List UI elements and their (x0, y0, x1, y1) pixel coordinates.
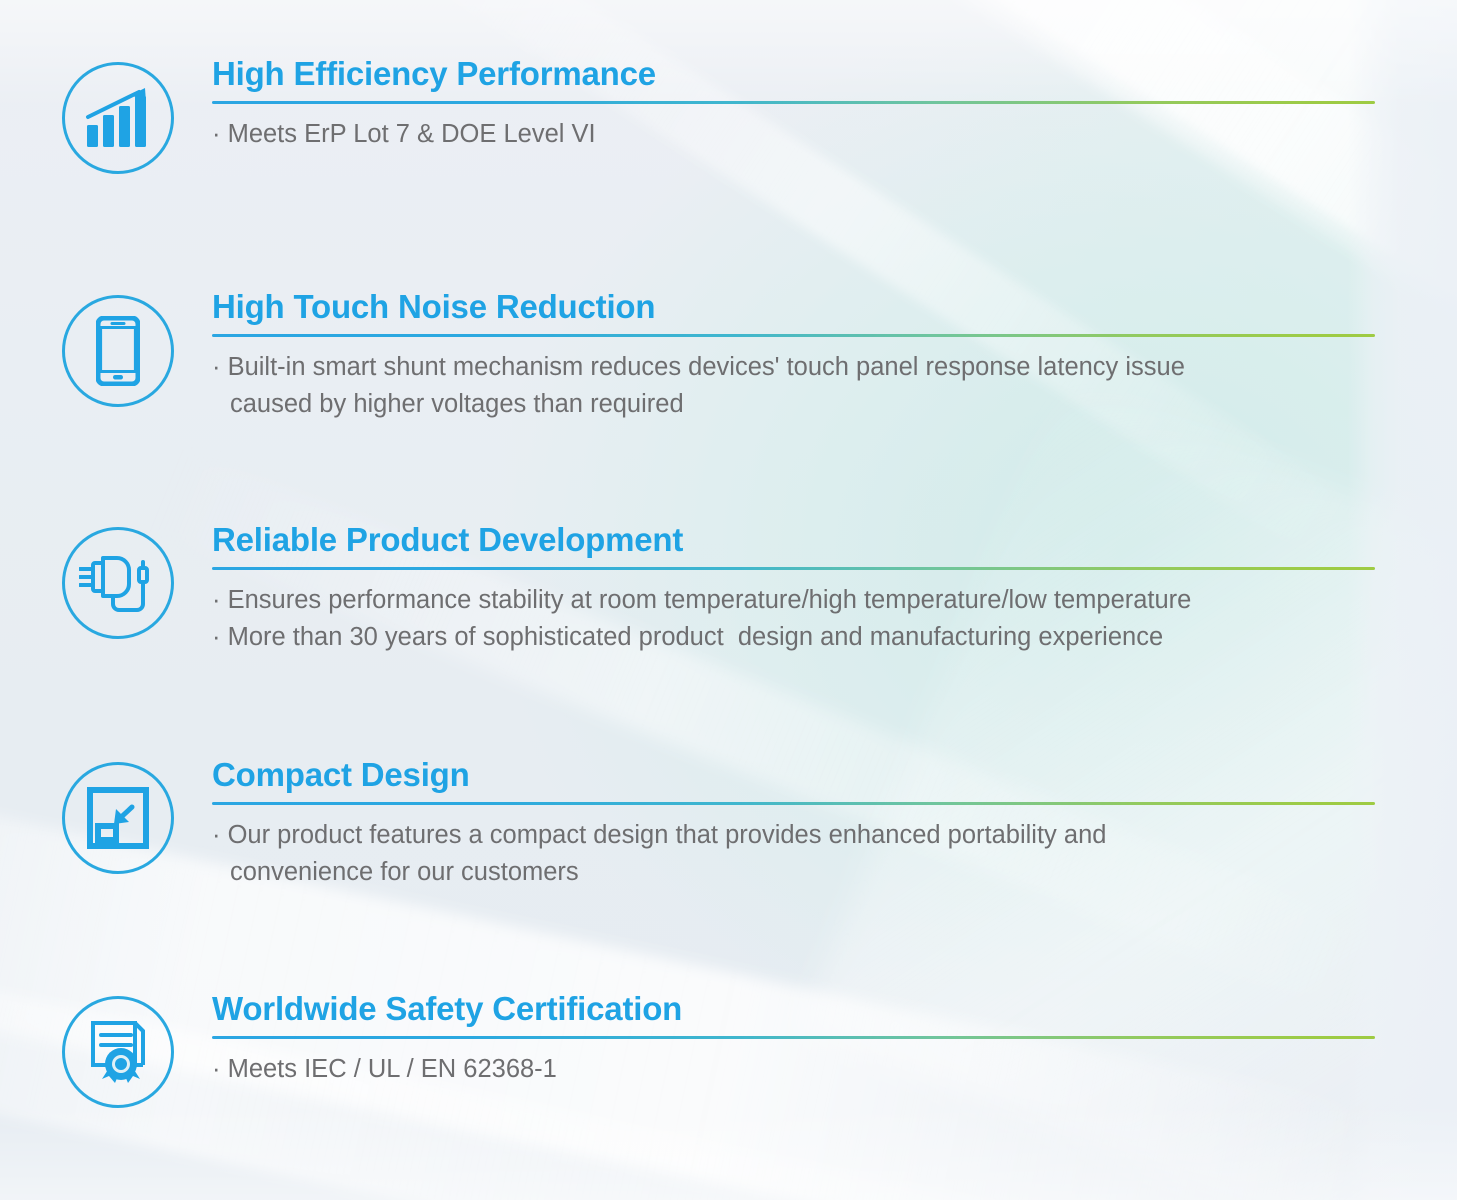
feature-line: caused by higher voltages than required (212, 386, 1457, 423)
feature-description: · Our product features a compact design … (212, 817, 1457, 891)
feature-title: Worldwide Safety Certification (212, 989, 1457, 1029)
feature-title: Reliable Product Development (212, 520, 1457, 560)
feature-divider (212, 802, 1375, 805)
feature-line: · More than 30 years of sophisticated pr… (212, 619, 1457, 656)
feature-description: · Built-in smart shunt mechanism reduces… (212, 349, 1457, 423)
feature-body: Worldwide Safety Certification · Meets I… (212, 989, 1457, 1088)
feature-body: Compact Design · Our product features a … (212, 755, 1457, 891)
feature-body: High Touch Noise Reduction · Built-in sm… (212, 287, 1457, 423)
compact-resize-icon (62, 762, 174, 874)
feature-title: High Touch Noise Reduction (212, 287, 1457, 327)
feature-title: Compact Design (212, 755, 1457, 795)
certificate-seal-icon (62, 996, 174, 1108)
feature-line: convenience for our customers (212, 854, 1457, 891)
feature-line: · Built-in smart shunt mechanism reduces… (212, 349, 1457, 386)
feature-list: High Efficiency Performance · Meets ErP … (0, 0, 1457, 1200)
feature-line: · Our product features a compact design … (212, 817, 1457, 854)
feature-body: Reliable Product Development · Ensures p… (212, 520, 1457, 656)
feature-description: · Meets ErP Lot 7 & DOE Level VI (212, 116, 1457, 153)
feature-divider (212, 1036, 1375, 1039)
bar-chart-growth-icon (62, 62, 174, 174)
feature-body: High Efficiency Performance · Meets ErP … (212, 54, 1457, 153)
feature-highlights-page: High Efficiency Performance · Meets ErP … (0, 0, 1457, 1200)
feature-description: · Meets IEC / UL / EN 62368-1 (212, 1051, 1457, 1088)
smartphone-icon (62, 295, 174, 407)
feature-description: · Ensures performance stability at room … (212, 582, 1457, 656)
feature-divider (212, 334, 1375, 337)
power-adapter-icon (62, 527, 174, 639)
feature-title: High Efficiency Performance (212, 54, 1457, 94)
feature-line: · Ensures performance stability at room … (212, 582, 1457, 619)
feature-line: · Meets ErP Lot 7 & DOE Level VI (212, 116, 1457, 153)
feature-divider (212, 101, 1375, 104)
feature-line: · Meets IEC / UL / EN 62368-1 (212, 1051, 1457, 1088)
feature-divider (212, 567, 1375, 570)
